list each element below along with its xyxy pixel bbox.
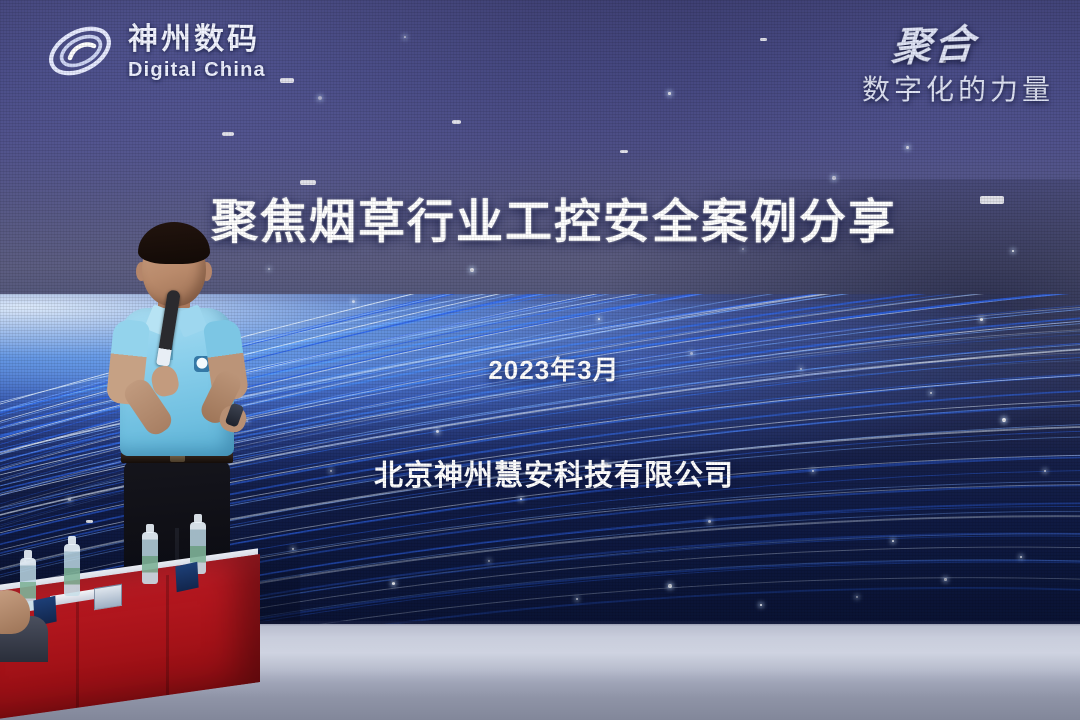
water-bottle bbox=[64, 544, 80, 596]
slogan-calligraphy: 聚合 bbox=[859, 12, 978, 75]
table-skirt-fold bbox=[76, 587, 79, 707]
logo-chinese-name: 神州数码 bbox=[128, 25, 266, 55]
slogan-subtitle: 数字化的力量 bbox=[862, 68, 1054, 108]
logo-english-name: Digital China bbox=[128, 60, 266, 80]
swirl-icon bbox=[44, 20, 116, 84]
table-skirt-fold bbox=[166, 575, 169, 695]
event-slogan: 聚合 数字化的力量 bbox=[862, 14, 1054, 108]
speaker-hair bbox=[138, 222, 210, 264]
water-bottle bbox=[142, 532, 158, 584]
name-card bbox=[175, 562, 198, 592]
digital-china-logo: 神州数码 Digital China bbox=[44, 20, 266, 84]
conference-stage-photo: 神州数码 Digital China 聚合 数字化的力量 聚焦烟草行业工控安全案… bbox=[0, 0, 1080, 720]
name-card bbox=[94, 584, 122, 610]
panel-table bbox=[0, 545, 260, 720]
